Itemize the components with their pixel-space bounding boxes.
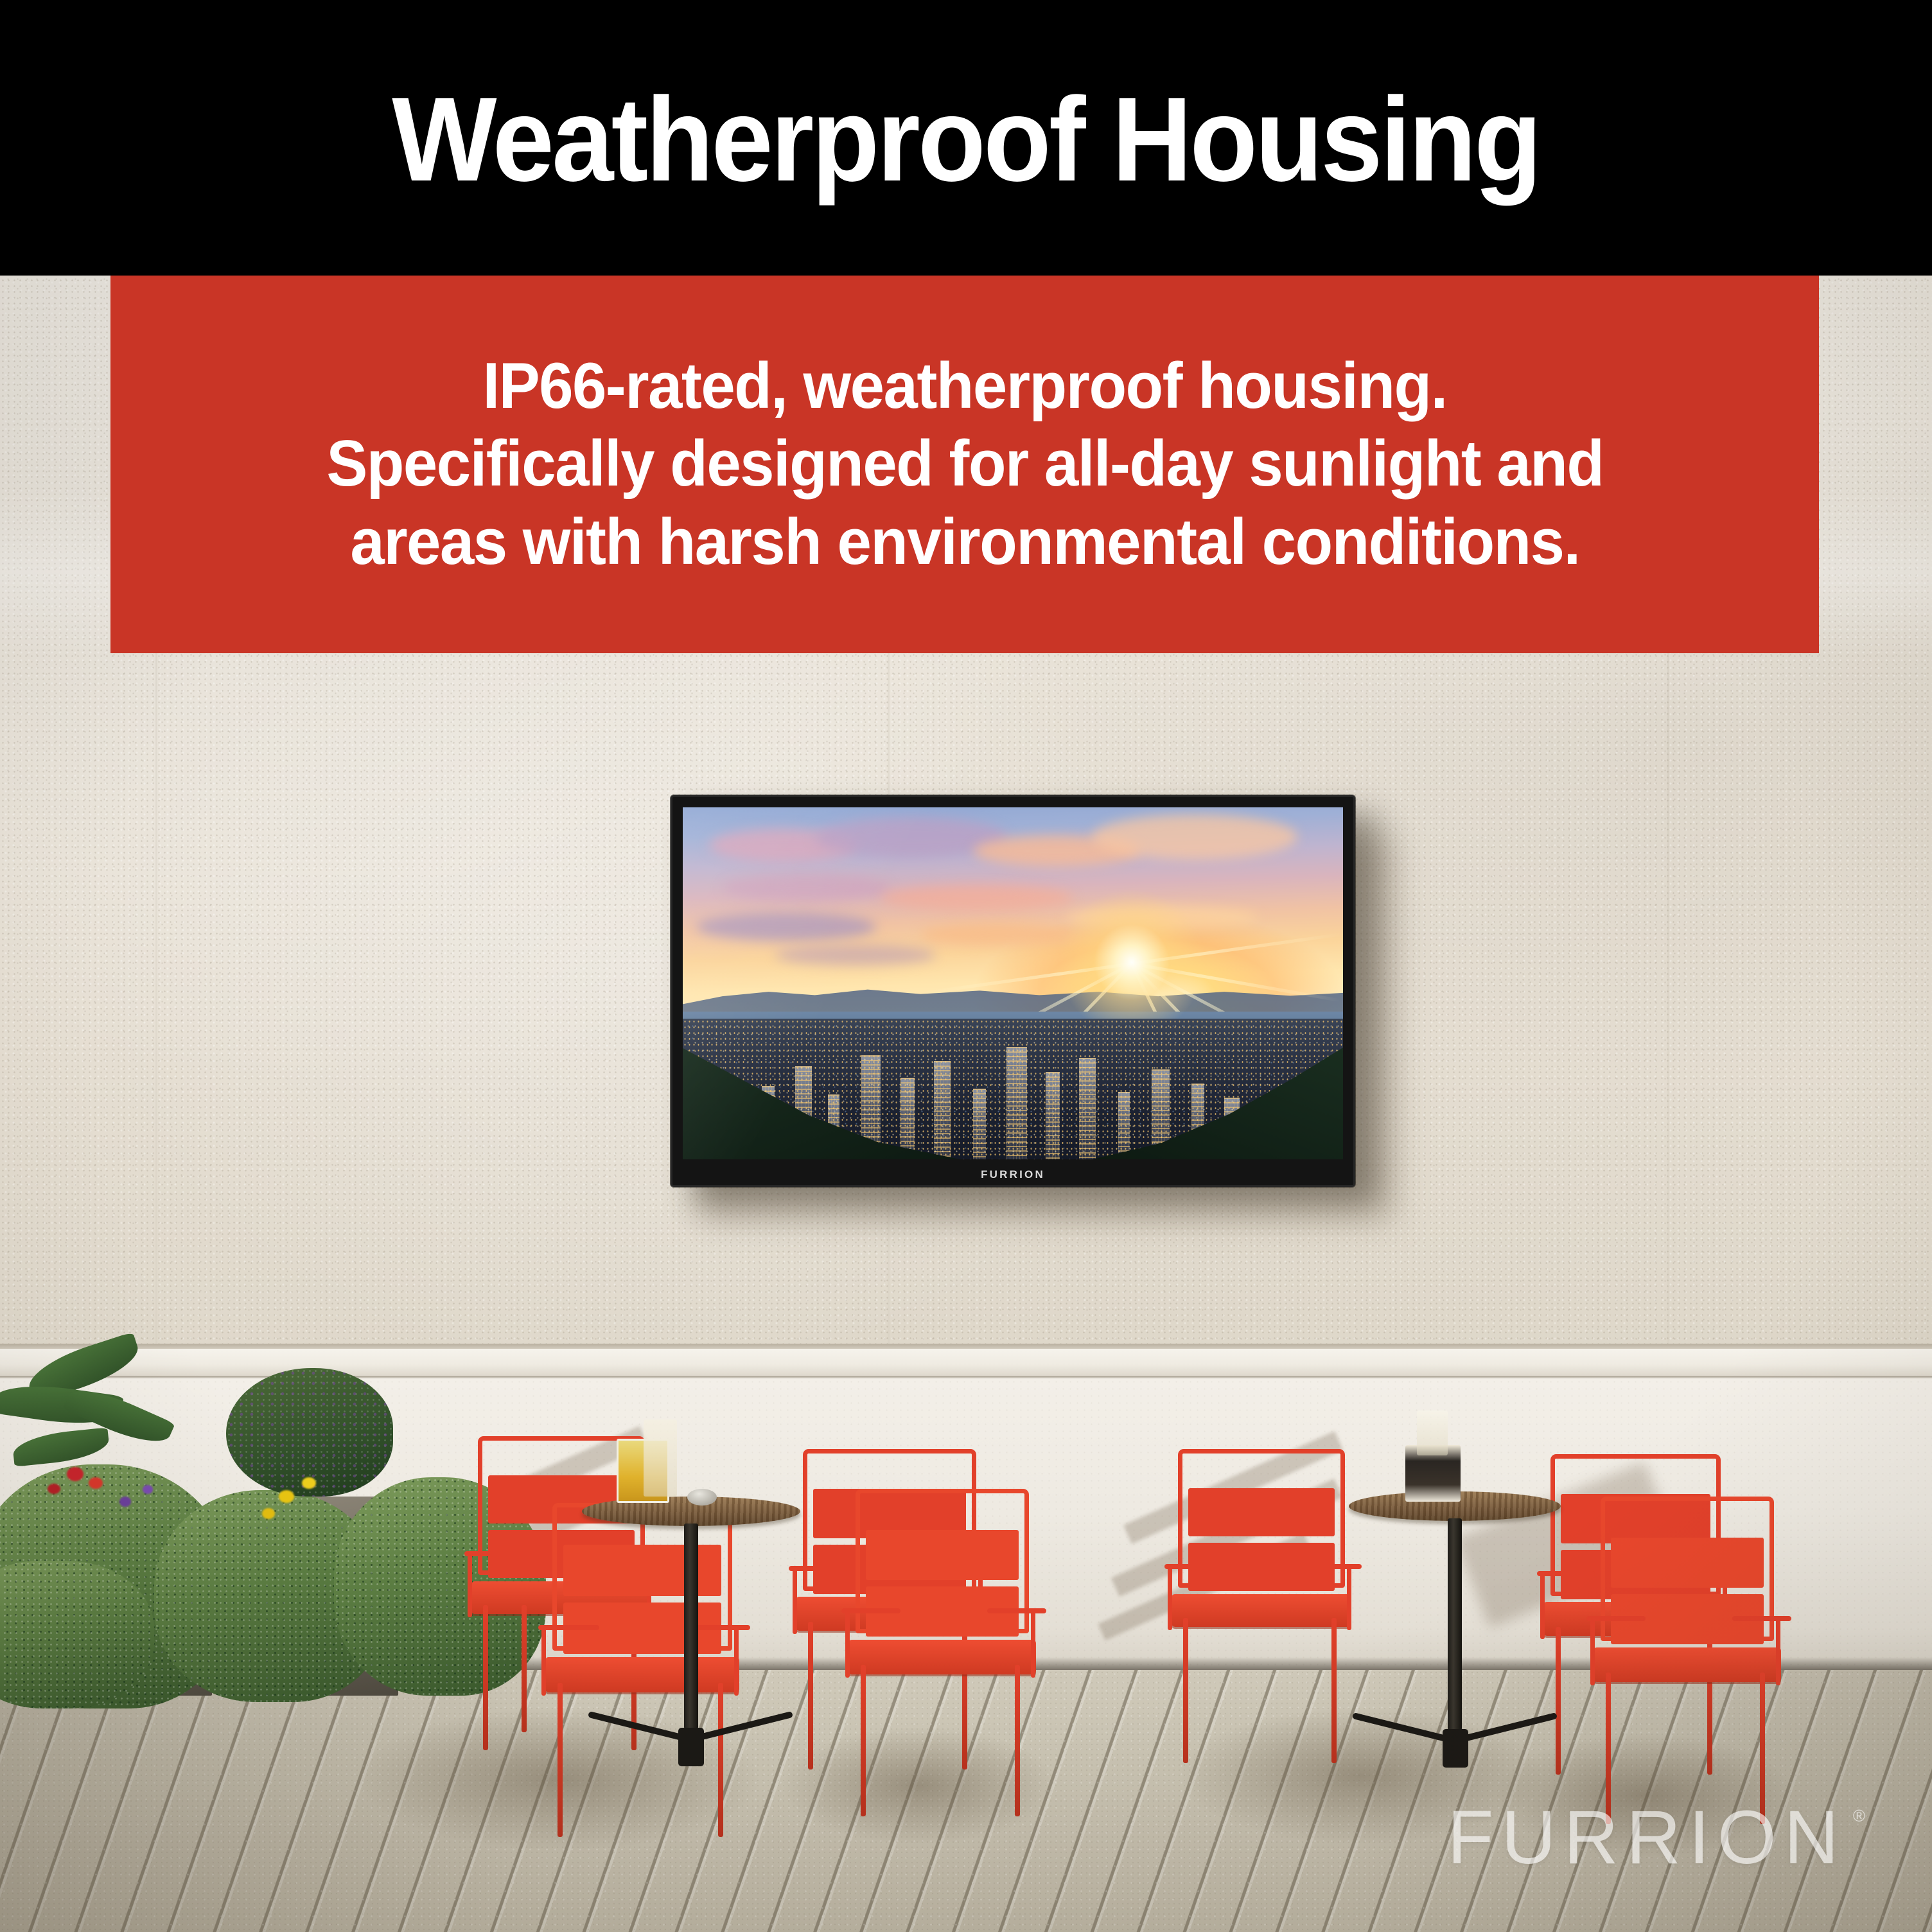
chair-leg: [483, 1605, 488, 1750]
registered-trademark-icon: ®: [1853, 1807, 1865, 1824]
title-bar: Weatherproof Housing: [0, 0, 1932, 276]
chair-leg: [1015, 1665, 1020, 1816]
chair-slat: [1611, 1538, 1764, 1588]
tv-screen: [683, 807, 1343, 1159]
table-pedestal: [684, 1524, 698, 1729]
patio-chair: [1178, 1449, 1345, 1751]
chair-armrest: [987, 1608, 1046, 1613]
chair-arm: [1031, 1608, 1035, 1678]
drink-glass: [644, 1419, 677, 1497]
cloud: [775, 945, 936, 965]
cloud: [723, 874, 890, 901]
yellow-bloom: [302, 1477, 316, 1489]
table-foot: [1352, 1712, 1447, 1742]
cloud: [1092, 814, 1297, 859]
patio-chair: [856, 1489, 1029, 1804]
red-bloom: [48, 1484, 60, 1494]
table-foot: [1462, 1712, 1558, 1742]
table-ashtray: [687, 1489, 717, 1506]
chair-slat: [1188, 1488, 1335, 1536]
chair-arm: [1168, 1564, 1172, 1630]
red-bloom: [67, 1467, 83, 1481]
chair-leg: [1331, 1618, 1337, 1763]
chair-leg: [522, 1605, 527, 1732]
outdoor-television[interactable]: FURRION: [671, 795, 1355, 1187]
table-pedestal: [1448, 1518, 1462, 1730]
chair-armrest: [1164, 1564, 1221, 1569]
chair-armrest: [464, 1551, 521, 1556]
table-foot: [698, 1711, 793, 1741]
patio-chair: [1601, 1497, 1774, 1811]
chair-seat: [1594, 1647, 1781, 1682]
callout-line-3: areas with harsh environmental condition…: [350, 504, 1579, 581]
chair-armrest: [1586, 1616, 1646, 1621]
chair-arm: [1776, 1616, 1780, 1685]
chair-seat: [1172, 1594, 1352, 1628]
furrion-wordmark: FURRION: [1447, 1800, 1847, 1875]
yellow-bloom: [279, 1490, 294, 1503]
chair-arm: [845, 1608, 850, 1678]
table-foot: [678, 1728, 704, 1766]
chair-armrest: [1732, 1616, 1791, 1621]
patio-table: [582, 1497, 800, 1779]
chair-slat: [866, 1530, 1019, 1580]
chair-arm: [468, 1551, 472, 1617]
chair-arm: [1590, 1616, 1595, 1685]
chair-arm: [541, 1625, 546, 1696]
yellow-bloom: [262, 1508, 275, 1519]
tv-brand-label: FURRION: [672, 1168, 1353, 1181]
chair-leg: [558, 1683, 563, 1837]
table-foot: [1443, 1729, 1468, 1768]
page-title: Weatherproof Housing: [392, 80, 1540, 200]
furrion-watermark: FURRION ®: [1447, 1800, 1865, 1875]
patio-table: [1349, 1491, 1561, 1780]
purple-bloom: [119, 1497, 131, 1507]
callout-line-2: Specifically designed for all-day sunlig…: [326, 425, 1603, 503]
chair-leg: [1183, 1618, 1188, 1763]
table-foot: [588, 1711, 683, 1741]
callout-banner: IP66-rated, weatherproof housing. Specif…: [110, 276, 1819, 653]
chair-leg: [861, 1665, 866, 1816]
callout-line-1: IP66-rated, weatherproof housing.: [482, 347, 1446, 425]
trailing-foliage: [0, 1561, 154, 1708]
promo-graphic: FURRION FURRION ® Weatherproof Housing I…: [0, 0, 1932, 1932]
chair-seat: [848, 1640, 1036, 1674]
purple-bloom: [143, 1485, 153, 1494]
chair-armrest: [841, 1608, 900, 1613]
chair-leg: [808, 1622, 813, 1770]
cloud: [881, 885, 1073, 911]
red-bloom: [89, 1477, 103, 1489]
drink-glass: [1417, 1410, 1448, 1455]
